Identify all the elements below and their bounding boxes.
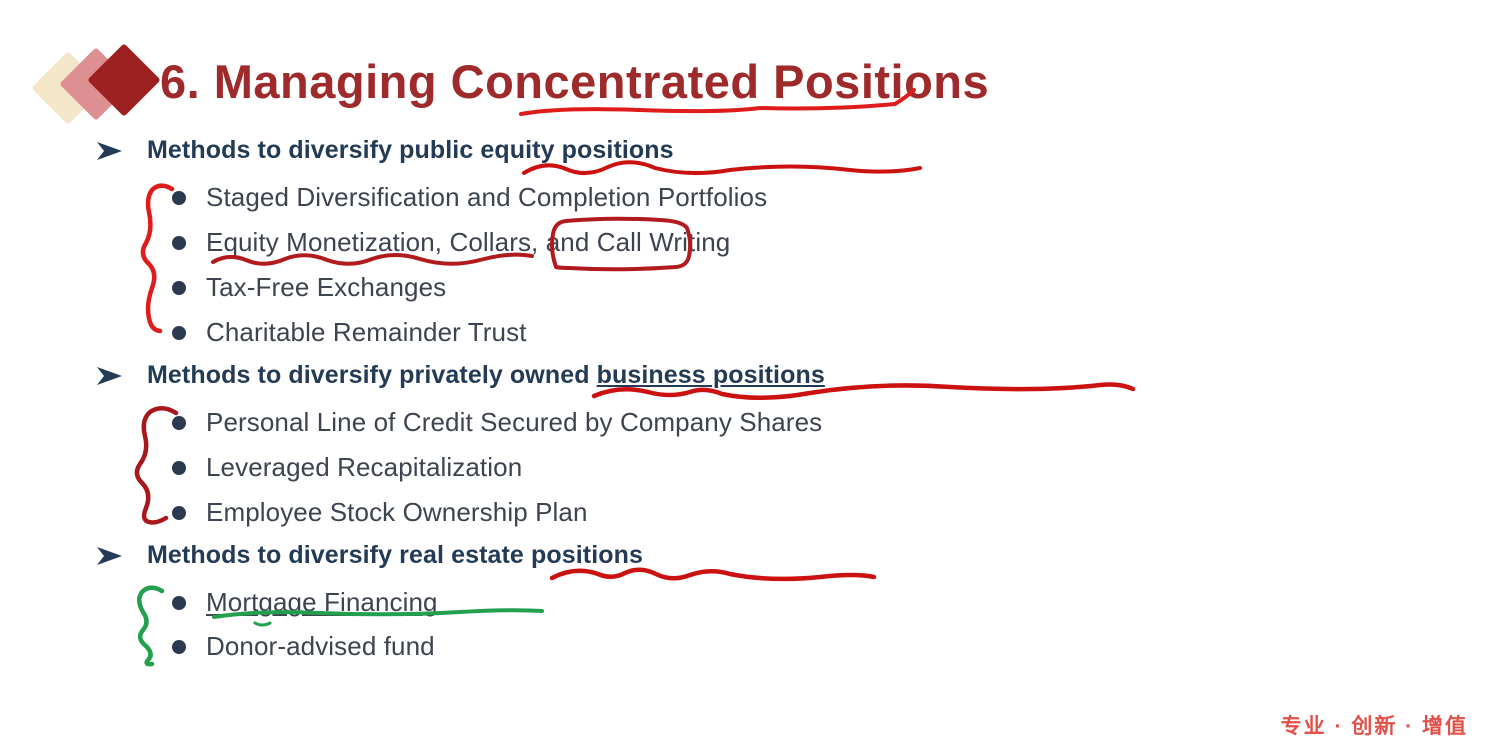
section-header-2: Methods to diversify privately owned bus… xyxy=(95,361,825,390)
arrow-bullet-icon xyxy=(95,139,125,163)
bullet-dot-icon xyxy=(172,596,186,610)
list-item: Charitable Remainder Trust xyxy=(172,317,527,348)
list-item: Personal Line of Credit Secured by Compa… xyxy=(172,407,822,438)
list-item: Equity Monetization, Collars, and Call W… xyxy=(172,227,730,258)
list-item: Mortgage Financing xyxy=(172,587,438,618)
bullet-dot-icon xyxy=(172,416,186,430)
list-item: Donor-advised fund xyxy=(172,631,435,662)
bullet-dot-icon xyxy=(172,191,186,205)
section-header-1: Methods to diversify public equity posit… xyxy=(95,136,674,165)
bullet-dot-icon xyxy=(172,236,186,250)
brace-red-section2-annotation xyxy=(137,408,176,522)
header3-underline-annotation xyxy=(552,570,874,579)
list-item: Staged Diversification and Completion Po… xyxy=(172,182,767,213)
logo-diamonds xyxy=(42,52,162,124)
arrow-bullet-icon xyxy=(95,364,125,388)
list-item-label: Donor-advised fund xyxy=(206,631,435,662)
section-header-1-label: Methods to diversify public equity posit… xyxy=(147,136,674,165)
list-item-label: Equity Monetization, Collars, and Call W… xyxy=(206,227,730,258)
bullet-dot-icon xyxy=(172,326,186,340)
list-item-label: Mortgage Financing xyxy=(206,587,438,618)
section-header-3: Methods to diversify real estate positio… xyxy=(95,541,643,570)
section-header-3-label: Methods to diversify real estate positio… xyxy=(147,541,643,570)
bullet-dot-icon xyxy=(172,461,186,475)
list-item: Employee Stock Ownership Plan xyxy=(172,497,588,528)
slide-canvas: 6. Managing Concentrated Positions Metho… xyxy=(0,0,1500,750)
bullet-dot-icon xyxy=(172,281,186,295)
list-item-label: Tax-Free Exchanges xyxy=(206,272,446,303)
brace-red-section1-annotation xyxy=(143,186,172,331)
item-underline-mortgage-tick-annotation xyxy=(255,623,270,625)
list-item-label: Leveraged Recapitalization xyxy=(206,452,522,483)
bullet-dot-icon xyxy=(172,640,186,654)
bullet-dot-icon xyxy=(172,506,186,520)
page-title: 6. Managing Concentrated Positions xyxy=(160,54,989,109)
list-item-label: Charitable Remainder Trust xyxy=(206,317,527,348)
arrow-bullet-icon xyxy=(95,544,125,568)
footer-tagline: 专业 · 创新 · 增值 xyxy=(1281,710,1468,740)
list-item: Tax-Free Exchanges xyxy=(172,272,446,303)
list-item-label: Employee Stock Ownership Plan xyxy=(206,497,588,528)
list-item-label: Personal Line of Credit Secured by Compa… xyxy=(206,407,822,438)
section-header-2-label: Methods to diversify privately owned bus… xyxy=(147,361,825,390)
brace-green-section3-annotation xyxy=(139,588,162,664)
list-item: Leveraged Recapitalization xyxy=(172,452,522,483)
list-item-label: Staged Diversification and Completion Po… xyxy=(206,182,767,213)
